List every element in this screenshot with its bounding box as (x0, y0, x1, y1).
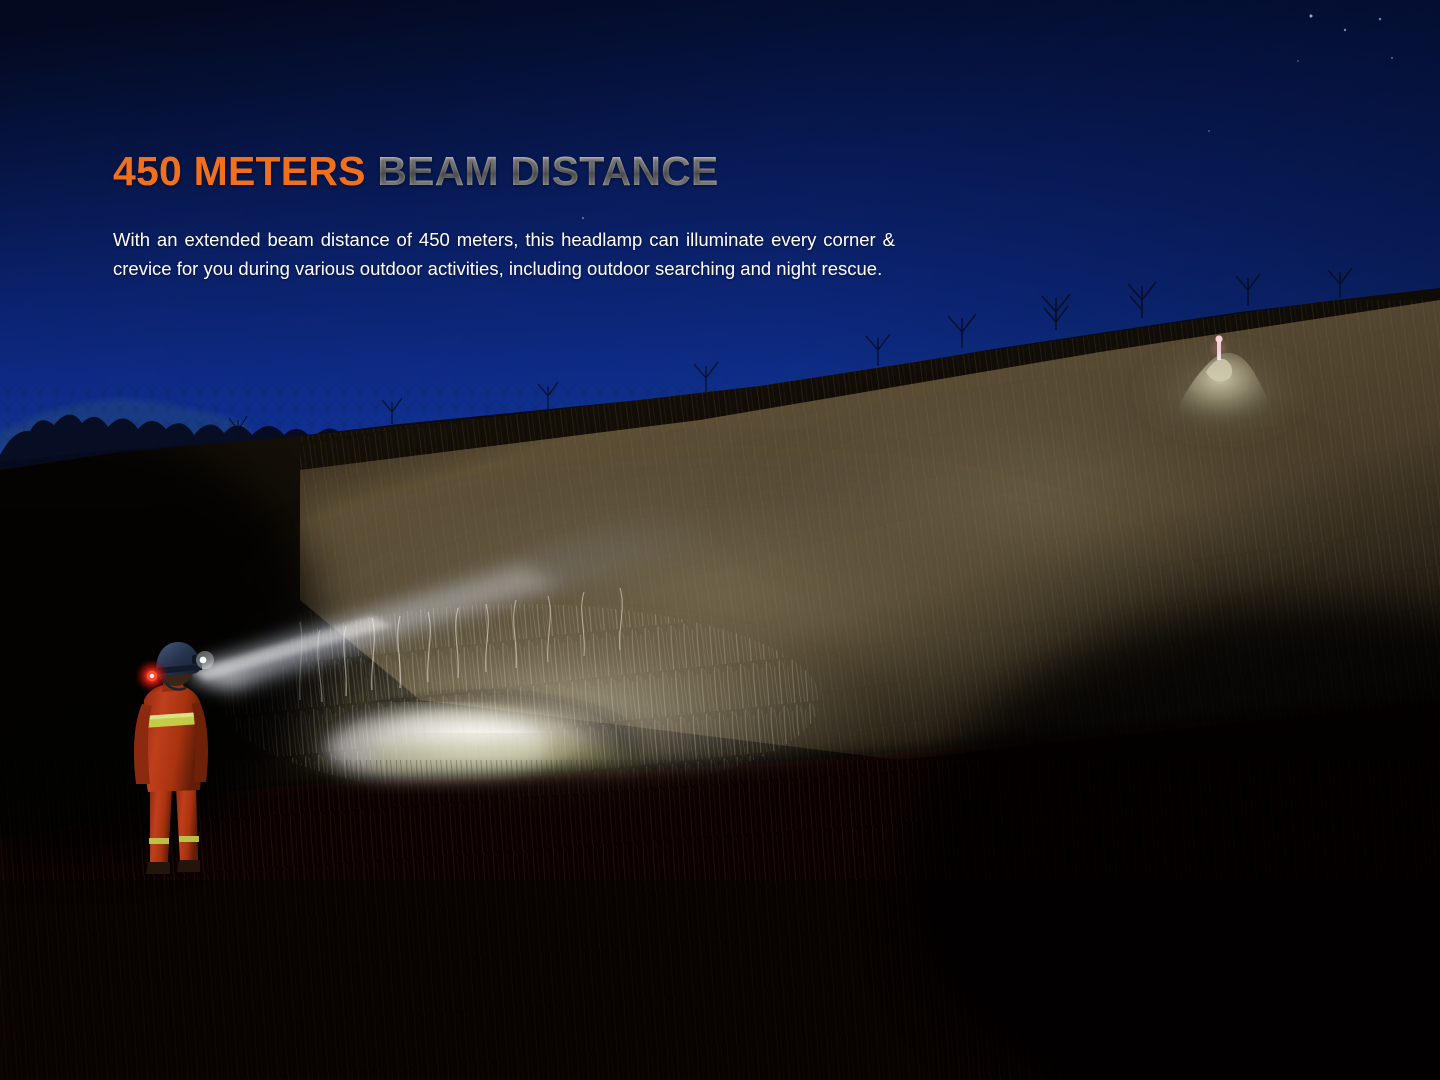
body-line-3: searching and night rescue. (655, 258, 882, 279)
headline-highlight: 450 METERS (113, 148, 366, 194)
headline-rest: BEAM DISTANCE (366, 148, 719, 194)
body-paragraph: With an extended beam distance of 450 me… (113, 193, 895, 283)
body-line-1: With an extended beam distance of 450 me… (113, 229, 764, 250)
copy-block: 450 METERS BEAM DISTANCE With an extende… (113, 150, 903, 283)
page-title: 450 METERS BEAM DISTANCE (113, 150, 903, 193)
marketing-banner: 450 METERS BEAM DISTANCE With an extende… (0, 0, 1440, 1080)
